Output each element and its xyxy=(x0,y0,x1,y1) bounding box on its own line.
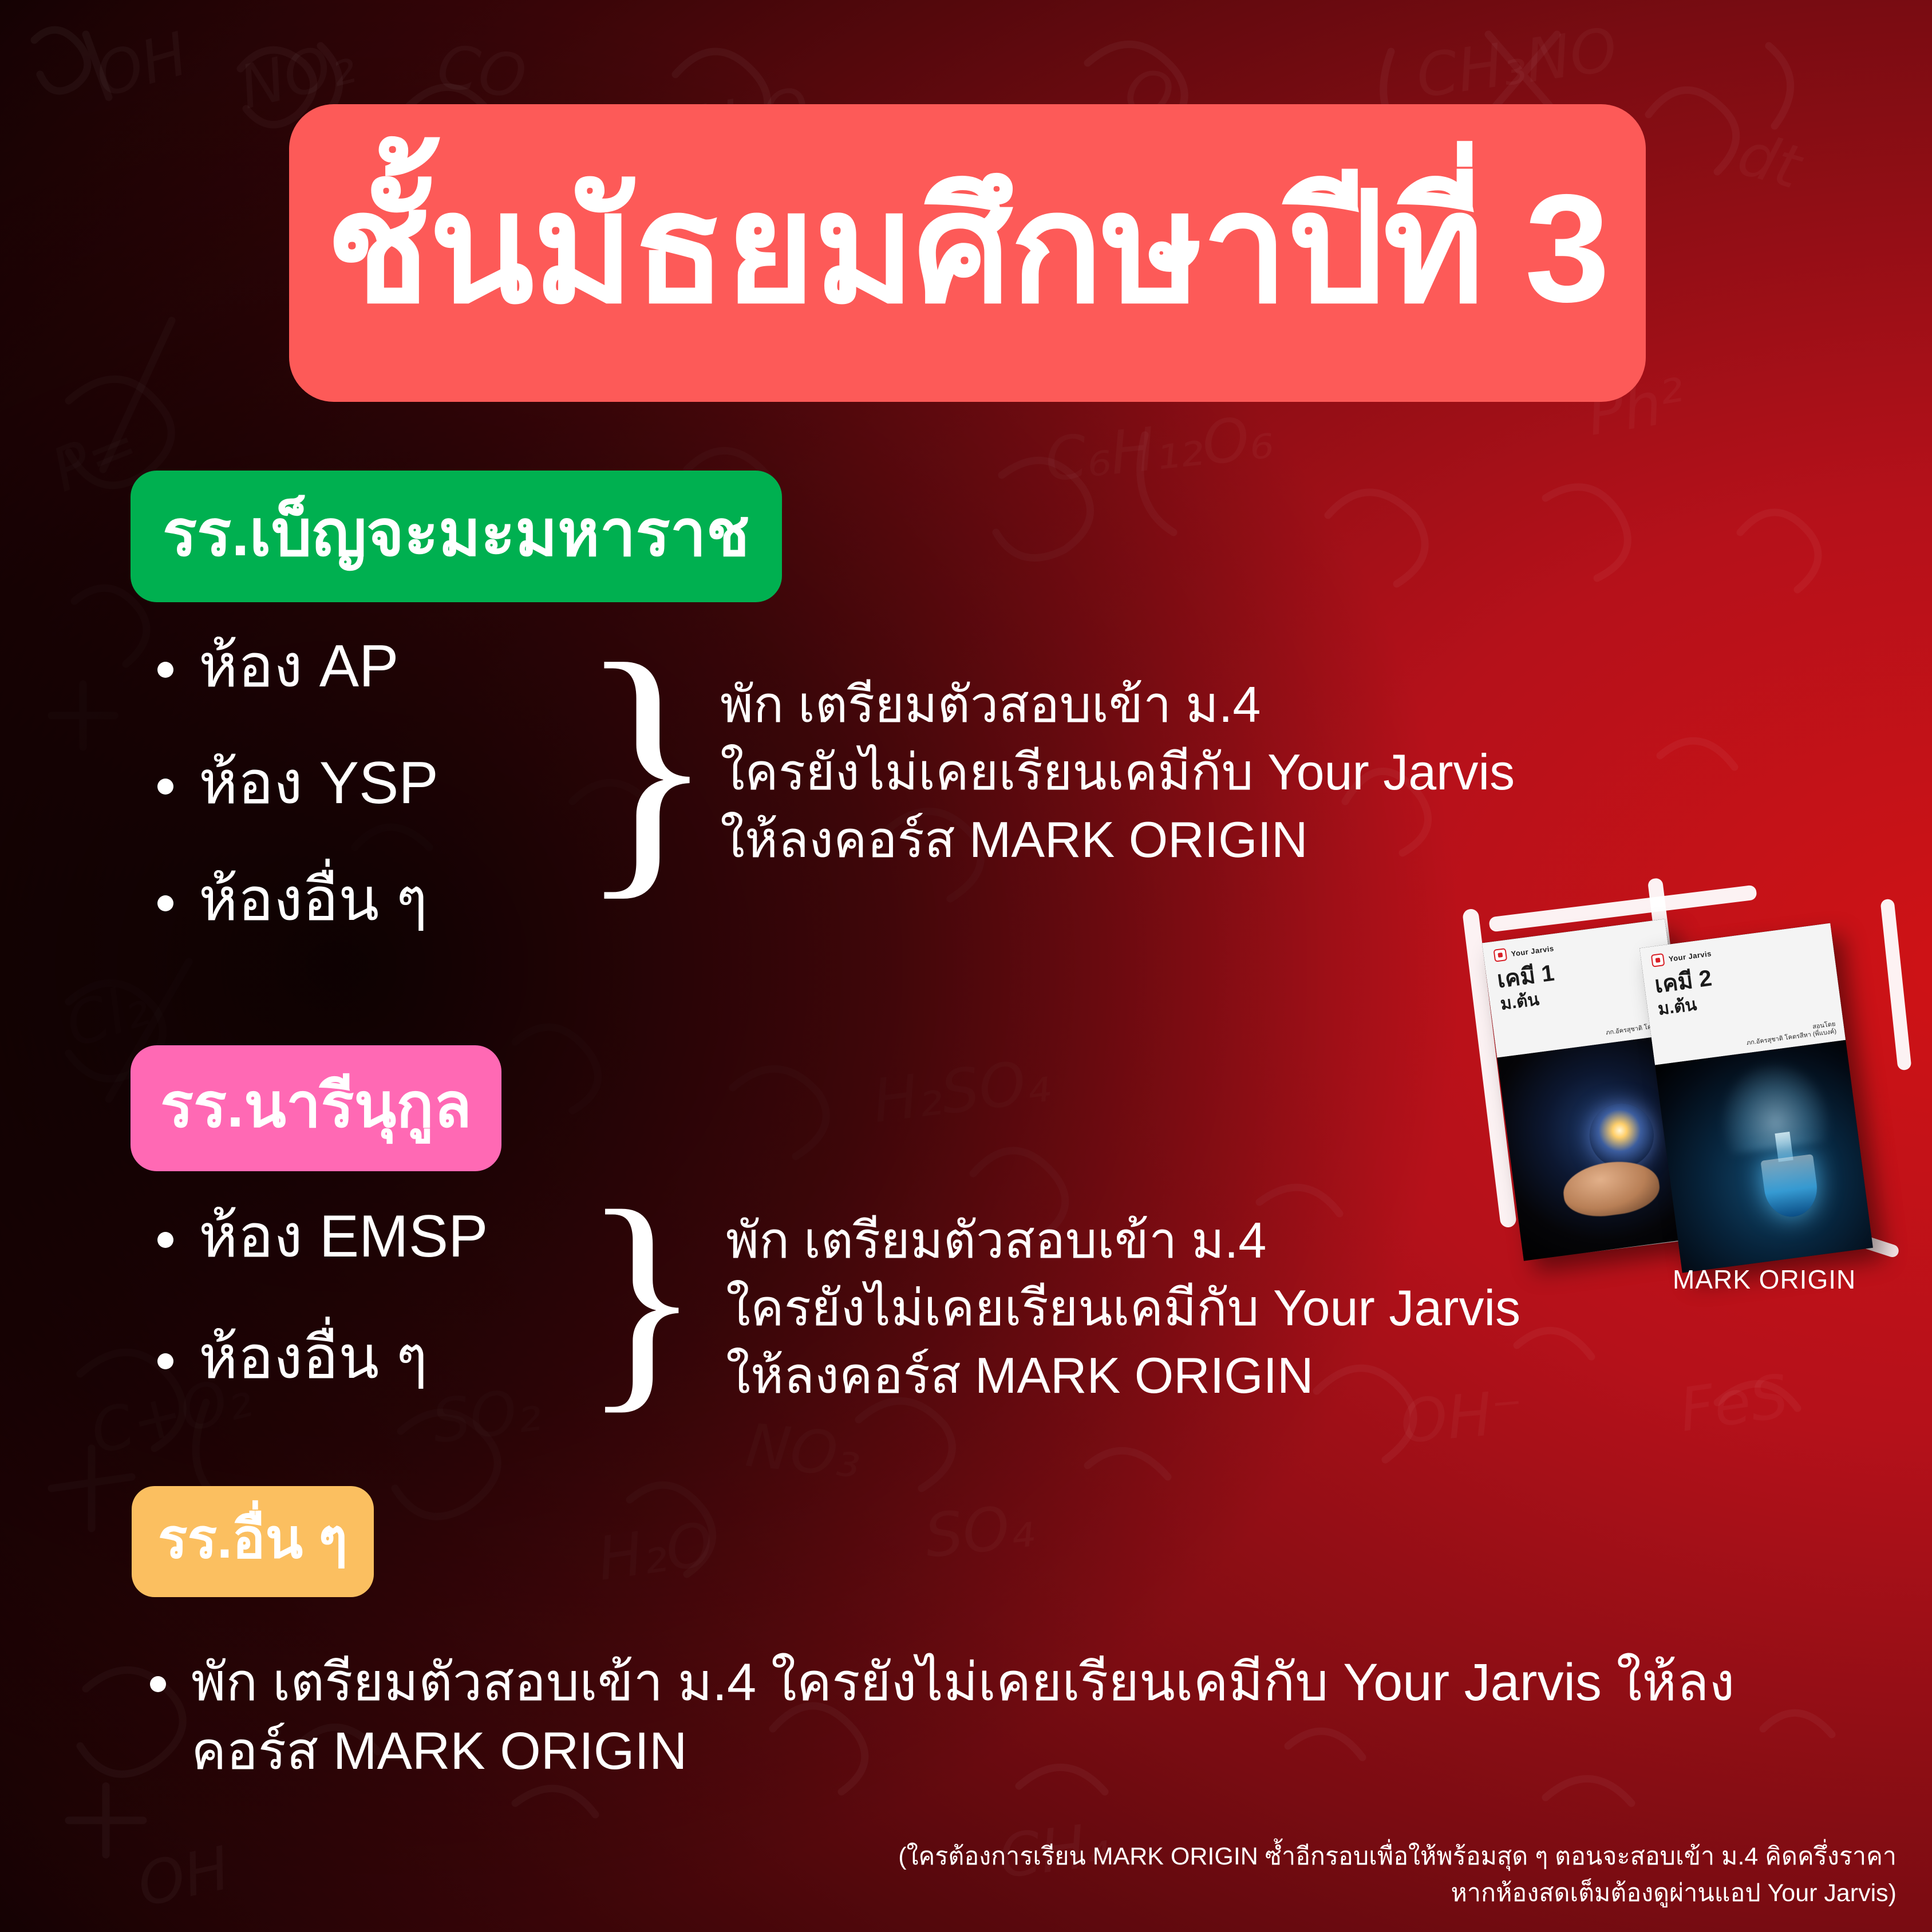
jarvis-shield-icon xyxy=(1651,953,1665,967)
book-cluster-caption: MARK ORIGIN xyxy=(1673,1264,1856,1295)
bullet-dot-icon xyxy=(157,1232,173,1248)
list-item-label: ห้อง EMSP xyxy=(199,1207,488,1266)
jarvis-shield-icon xyxy=(1494,948,1508,962)
svg-text:SO₄: SO₄ xyxy=(922,1491,1037,1571)
section-badge-other-schools: รร.อื่น ๆ xyxy=(132,1486,374,1597)
flask-graphic xyxy=(1761,1154,1821,1220)
description-line: ให้ลงคอร์ส MARK ORIGIN xyxy=(720,806,1515,874)
list-item-label: ห้อง YSP xyxy=(199,753,438,813)
section-badge-benjamamaharat: รร.เบ็ญจะมะมหาราช xyxy=(131,471,782,602)
brand-name: Your Jarvis xyxy=(1668,949,1712,963)
list-item: ห้อง EMSP xyxy=(157,1207,488,1266)
paragraph-text: พัก เตรียมตัวสอบเข้า ม.4 ใครยังไม่เคยเรี… xyxy=(191,1649,1844,1785)
svg-text:H₂O: H₂O xyxy=(594,1509,718,1594)
bullet-dot-icon xyxy=(157,662,173,678)
description-line: พัก เตรียมตัวสอบเข้า ม.4 xyxy=(720,671,1515,738)
list-item: ห้องอื่น ๆ xyxy=(157,870,438,930)
footnote: (ใครต้องการเรียน MARK ORIGIN ซ้ำอีกรอบเพ… xyxy=(465,1839,1897,1911)
svg-text:H₂SO₄: H₂SO₄ xyxy=(869,1045,1053,1136)
bullet-list-nareenukul: ห้อง EMSP ห้องอื่น ๆ xyxy=(157,1207,488,1449)
svg-text:CO: CO xyxy=(433,31,531,112)
description-line: ใครยังไม่เคยเรียนเคมีกับ Your Jarvis xyxy=(726,1274,1520,1342)
bullet-dot-icon xyxy=(157,779,173,795)
bullet-dot-icon xyxy=(157,1353,173,1369)
description-line: ใครยังไม่เคยเรียนเคมีกับ Your Jarvis xyxy=(720,738,1515,806)
section-badge-nareenukul: รร.นารีนุกูล xyxy=(131,1045,501,1171)
svg-text:FeS: FeS xyxy=(1676,1361,1793,1445)
svg-text:NO₃: NO₃ xyxy=(742,1411,864,1492)
badge-label: รร.เบ็ญจะมะมหาราช xyxy=(163,482,750,584)
footnote-line-1: (ใครต้องการเรียน MARK ORIGIN ซ้ำอีกรอบเพ… xyxy=(465,1839,1897,1875)
hand-graphic xyxy=(1560,1157,1662,1222)
badge-label: รร.นารีนุกูล xyxy=(160,1056,472,1154)
bullet-dot-icon xyxy=(150,1676,166,1692)
description-other-schools: พัก เตรียมตัวสอบเข้า ม.4 ใครยังไม่เคยเรี… xyxy=(150,1649,1844,1785)
brand-name: Your Jarvis xyxy=(1511,944,1555,958)
book-cover-artwork-flask xyxy=(1655,1040,1873,1273)
description-line: พัก เตรียมตัวสอบเข้า ม.4 xyxy=(726,1207,1520,1274)
page-title-banner: ชั้นมัธยมศึกษาปีที่ 3 xyxy=(289,104,1646,402)
bullet-dot-icon xyxy=(157,895,173,911)
smoke-graphic xyxy=(1714,1056,1833,1155)
book-cluster: Your Jarvis เคมี 1 ม.ต้น ภก.อัครสุชาติ โ… xyxy=(1488,882,1932,1305)
list-item: ห้องอื่น ๆ xyxy=(157,1328,488,1388)
list-item-label: ห้องอื่น ๆ xyxy=(199,1328,428,1388)
svg-text:OH: OH xyxy=(132,1833,236,1921)
description-benjama: พัก เตรียมตัวสอบเข้า ม.4 ใครยังไม่เคยเรี… xyxy=(720,671,1515,874)
brush-stroke-decoration xyxy=(1880,899,1911,1071)
description-line: ให้ลงคอร์ส MARK ORIGIN xyxy=(726,1342,1520,1409)
svg-text:OH: OH xyxy=(88,19,195,111)
svg-text:C₆H₁₂O₆: C₆H₁₂O₆ xyxy=(1042,402,1277,495)
description-nareenukul: พัก เตรียมตัวสอบเข้า ม.4 ใครยังไม่เคยเรี… xyxy=(726,1207,1520,1409)
atom-orb-graphic xyxy=(1586,1100,1658,1172)
list-item-label: ห้องอื่น ๆ xyxy=(199,870,428,930)
svg-text:CH₃NO: CH₃NO xyxy=(1412,14,1622,112)
svg-text:dt: dt xyxy=(1730,118,1810,203)
curly-brace-icon: } xyxy=(578,647,716,882)
poster-canvas: OH NO₂ CO H₂O O CH₃NO dt P= C₆H₁₂O₆ Ph² … xyxy=(0,0,1932,1932)
curly-brace-icon: } xyxy=(583,1196,701,1398)
badge-label: รร.อื่น ๆ xyxy=(158,1495,347,1582)
list-item: ห้อง YSP xyxy=(157,753,438,813)
list-item: ห้อง AP xyxy=(157,637,438,696)
list-item-label: ห้อง AP xyxy=(199,637,398,696)
bullet-list-benjama: ห้อง AP ห้อง YSP ห้องอื่น ๆ xyxy=(157,637,438,987)
footnote-line-2: หากห้องสดเต็มต้องดูผ่านแอป Your Jarvis) xyxy=(465,1875,1897,1912)
page-title: ชั้นมัธยมศึกษาปีที่ 3 xyxy=(326,171,1609,335)
